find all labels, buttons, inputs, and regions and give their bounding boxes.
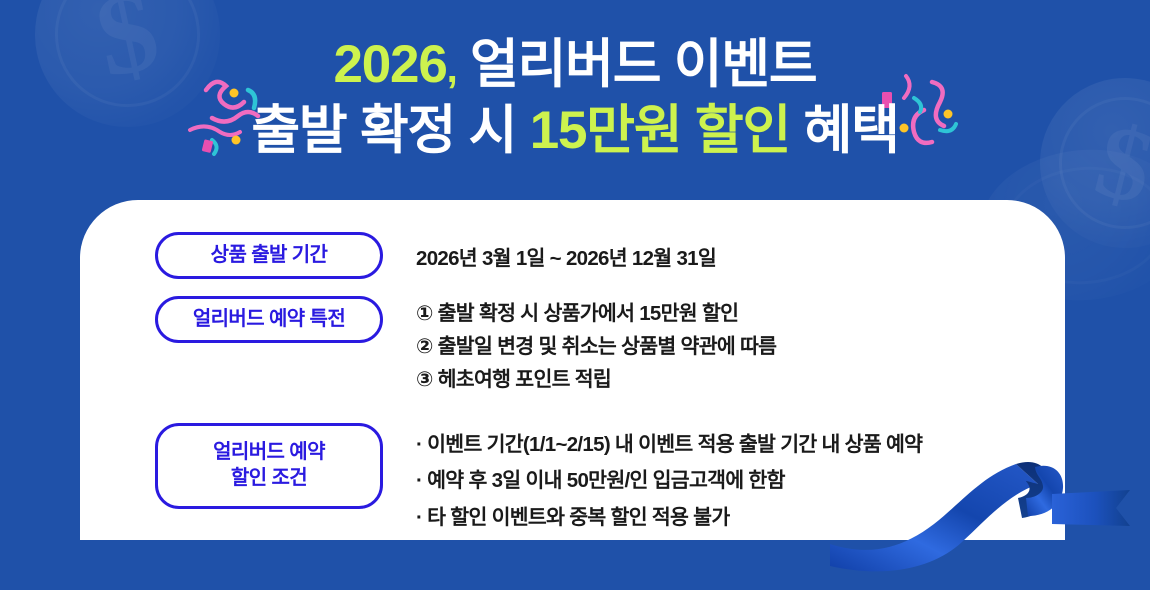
promo-banner: $ $ 2026, 얼리버드 이벤트 출발 확정 시 15만원 할인 혜택: [0, 0, 1150, 590]
benefit-item: ① 출발 확정 시 상품가에서 15만원 할인: [416, 297, 1035, 330]
info-row-discount-conditions: 얼리버드 예약 할인 조건 · 이벤트 기간(1/1~2/15) 내 이벤트 적…: [155, 423, 1035, 536]
headline: 2026, 얼리버드 이벤트 출발 확정 시 15만원 할인 혜택: [0, 38, 1150, 157]
headline-discount-highlight: 15만원 할인: [530, 101, 790, 160]
condition-item: · 타 할인 이벤트와 중복 할인 적용 불가: [416, 500, 1035, 536]
headline-line2-part2: 혜택: [804, 101, 899, 160]
info-rows: 상품 출발 기간 2026년 3월 1일 ~ 2026년 12월 31일 얼리버…: [155, 232, 1035, 536]
label-pill-discount-conditions: 얼리버드 예약 할인 조건: [155, 423, 383, 510]
headline-comma: ,: [447, 47, 457, 91]
content-earlybird-benefits: ① 출발 확정 시 상품가에서 15만원 할인 ② 출발일 변경 및 취소는 상…: [383, 296, 1035, 397]
headline-line-2: 출발 확정 시 15만원 할인 혜택: [0, 104, 1150, 157]
condition-item: · 이벤트 기간(1/1~2/15) 내 이벤트 적용 출발 기간 내 상품 예…: [416, 427, 1035, 463]
headline-event-label: 얼리버드 이벤트: [470, 35, 816, 94]
info-row-earlybird-benefits: 얼리버드 예약 특전 ① 출발 확정 시 상품가에서 15만원 할인 ② 출발일…: [155, 296, 1035, 397]
label-pill-line-2: 할인 조건: [158, 465, 380, 491]
label-pill-departure-period: 상품 출발 기간: [155, 232, 383, 279]
label-pill-line-1: 얼리버드 예약: [158, 439, 380, 465]
content-departure-period: 2026년 3월 1일 ~ 2026년 12월 31일: [383, 232, 1035, 271]
period-text-line: 2026년 3월 1일 ~ 2026년 12월 31일: [416, 241, 1035, 271]
condition-item: · 예약 후 3일 이내 50만원/인 입금고객에 한함: [416, 463, 1035, 499]
info-row-departure-period: 상품 출발 기간 2026년 3월 1일 ~ 2026년 12월 31일: [155, 232, 1035, 279]
headline-line-1: 2026, 얼리버드 이벤트: [0, 38, 1150, 91]
benefit-item: ② 출발일 변경 및 취소는 상품별 약관에 따름: [416, 330, 1035, 363]
benefit-item: ③ 헤초여행 포인트 적립: [416, 363, 1035, 396]
label-pill-earlybird-benefits: 얼리버드 예약 특전: [155, 296, 383, 343]
headline-year: 2026: [333, 35, 446, 94]
content-card: 상품 출발 기간 2026년 3월 1일 ~ 2026년 12월 31일 얼리버…: [80, 200, 1065, 540]
content-discount-conditions: · 이벤트 기간(1/1~2/15) 내 이벤트 적용 출발 기간 내 상품 예…: [383, 423, 1035, 536]
headline-line2-part1: 출발 확정 시: [251, 101, 516, 160]
